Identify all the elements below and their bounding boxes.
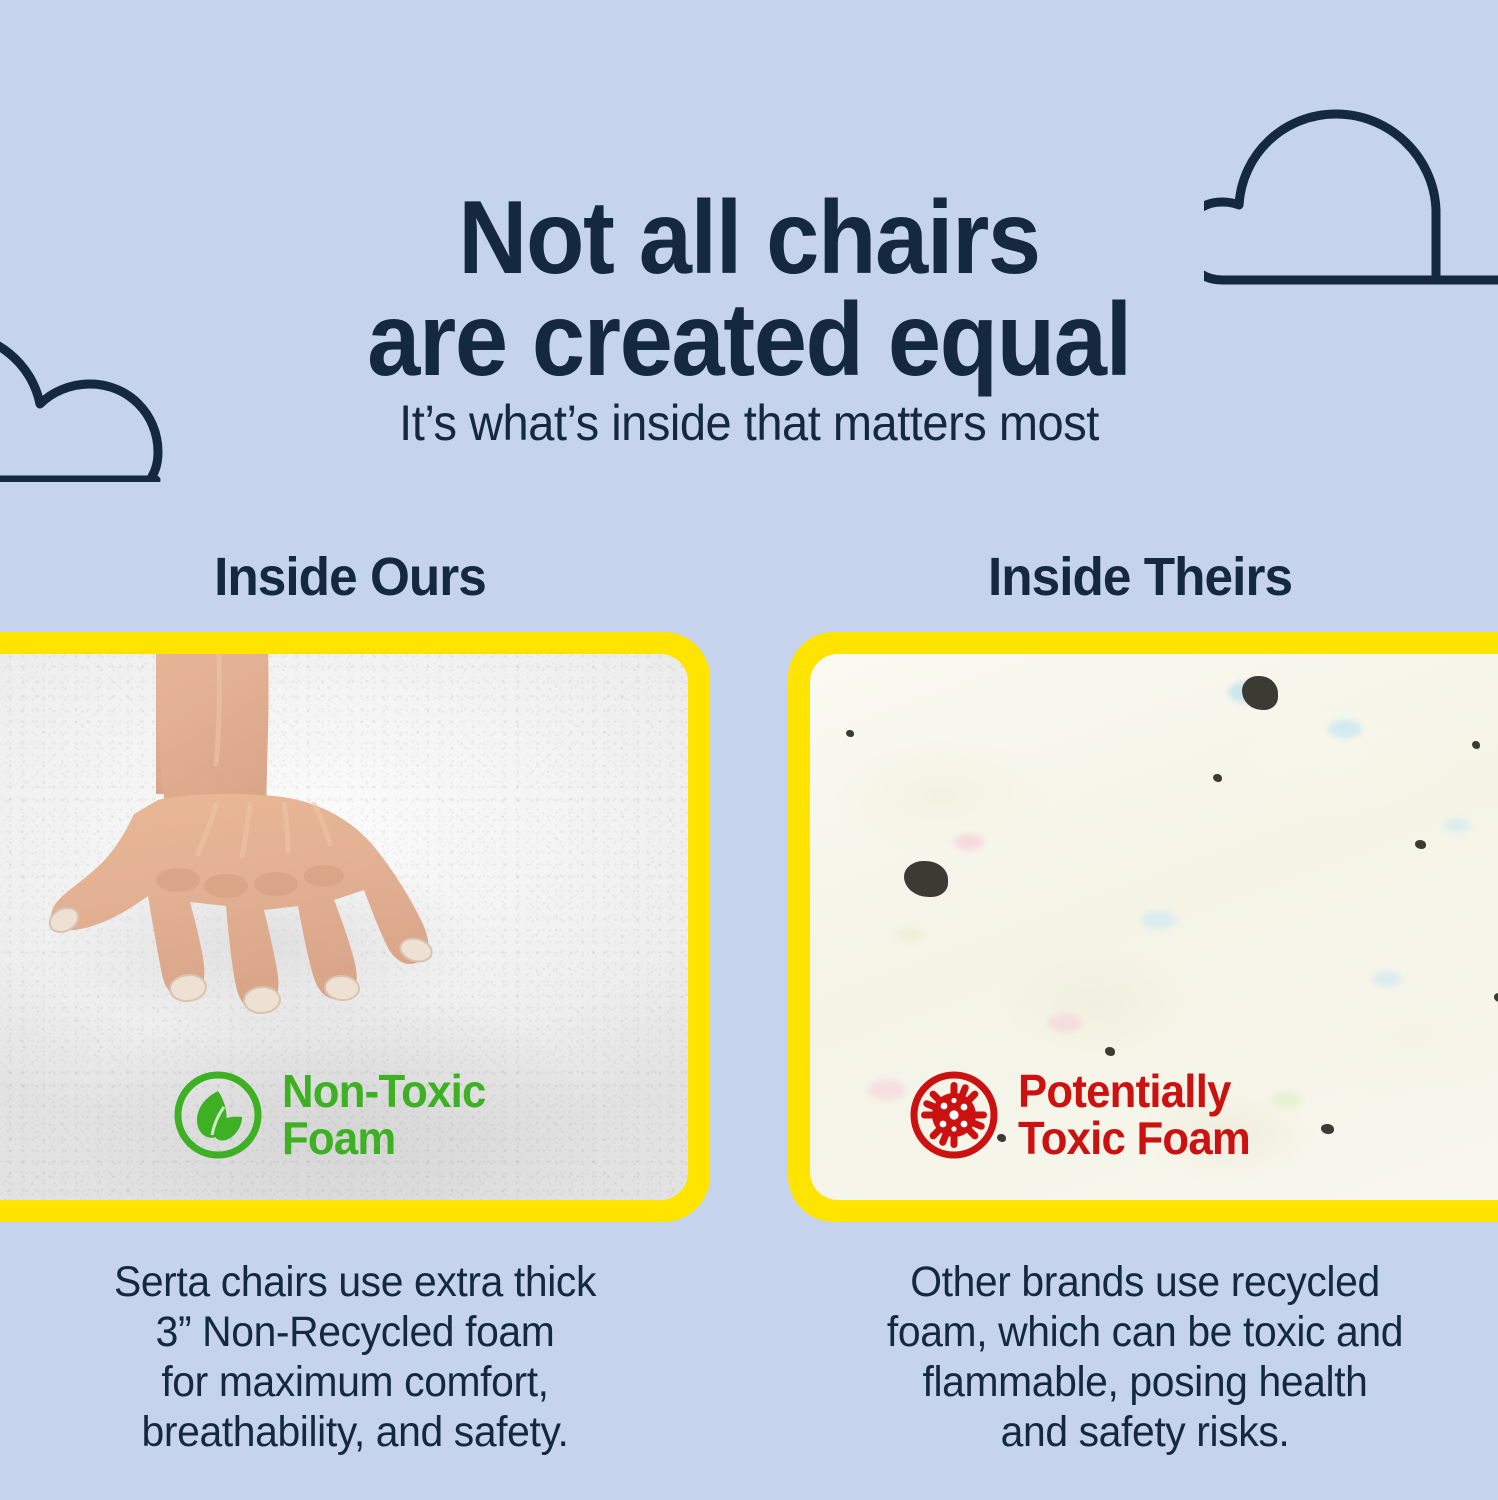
column-heading-theirs: Inside Theirs: [808, 550, 1473, 604]
page-title: Not all chairs are created equal: [60, 188, 1438, 392]
badge-potentially-toxic-foam: Potentially Toxic Foam: [908, 1068, 1262, 1162]
photo-card-ours: Non-Toxic Foam: [0, 632, 710, 1222]
caption-ours-line-2: 3” Non-Recycled foam: [27, 1308, 683, 1358]
badge-toxic-label: Potentially Toxic Foam: [1018, 1068, 1250, 1162]
caption-theirs-line-3: flammable, posing health: [817, 1358, 1473, 1408]
caption-ours-line-4: breathability, and safety.: [27, 1408, 683, 1458]
badge-non-toxic-foam: Non-Toxic Foam: [172, 1068, 496, 1162]
page-subtitle: It’s what’s inside that matters most: [45, 398, 1453, 448]
caption-ours: Serta chairs use extra thick 3” Non-Recy…: [27, 1258, 683, 1458]
headline-line-2: are created equal: [60, 290, 1438, 392]
headline-line-1: Not all chairs: [458, 180, 1040, 296]
leaf-circle-icon: [172, 1069, 264, 1161]
caption-ours-line-1: Serta chairs use extra thick: [27, 1258, 683, 1308]
photo-theirs: Potentially Toxic Foam: [810, 654, 1498, 1200]
infographic-canvas: Not all chairs are created equal It’s wh…: [0, 0, 1498, 1500]
badge-non-toxic-line2: Foam: [282, 1112, 396, 1164]
caption-theirs-line-1: Other brands use recycled: [817, 1258, 1473, 1308]
badge-toxic-line2: Toxic Foam: [1018, 1112, 1250, 1164]
hand-on-foam-illustration: [30, 654, 500, 1064]
photo-card-theirs: Potentially Toxic Foam: [788, 632, 1498, 1222]
badge-non-toxic-label: Non-Toxic Foam: [282, 1068, 486, 1162]
germ-circle-icon: [908, 1069, 1000, 1161]
badge-non-toxic-line1: Non-Toxic: [282, 1065, 486, 1117]
caption-theirs-line-4: and safety risks.: [817, 1408, 1473, 1458]
column-heading-ours: Inside Ours: [18, 550, 683, 604]
badge-toxic-line1: Potentially: [1018, 1065, 1231, 1117]
photo-ours: Non-Toxic Foam: [0, 654, 688, 1200]
caption-ours-line-3: for maximum comfort,: [27, 1358, 683, 1408]
caption-theirs-line-2: foam, which can be toxic and: [817, 1308, 1473, 1358]
caption-theirs: Other brands use recycled foam, which ca…: [817, 1258, 1473, 1458]
